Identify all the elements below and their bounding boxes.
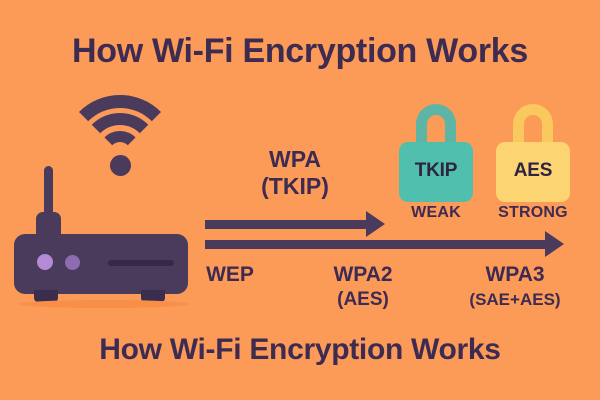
padlock-aes-icon: AES [496,104,570,202]
padlock-aes-label: AES [496,160,570,182]
router-vent-slot [108,260,174,266]
protocol-name-wep: WEP [206,263,254,286]
wifi-router-illustration [8,88,208,308]
protocol-name-wpa3: WPA3 [485,263,544,286]
label-wpa-line1: WPA [269,146,321,172]
infographic-canvas: How Wi-Fi Encryption Works WPA (TKIP) TK… [0,0,600,400]
router-led-indicator-2 [65,255,80,270]
protocol-name-wpa2: WPA2 [333,263,392,286]
router-shadow [20,300,188,308]
wifi-signal-dot-icon [110,155,131,176]
protocol-label-wpa3: WPA3 (SAE+AES) [440,262,590,312]
arrow-bottom-head-icon [545,231,564,257]
label-wpa-tkip: WPA (TKIP) [215,146,375,200]
padlock-tkip-icon: TKIP [399,104,473,202]
arrow-bottom-line [205,240,547,249]
arrow-top-line [205,220,368,229]
protocol-detail-wpa3: (SAE+AES) [440,287,590,312]
page-title-bottom: How Wi-Fi Encryption Works [0,332,600,368]
page-title-top: How Wi-Fi Encryption Works [0,31,600,71]
strength-label-strong: STRONG [483,204,583,222]
protocol-label-wpa2: WPA2 (AES) [303,262,423,312]
router-led-indicator-1 [37,254,53,270]
padlock-tkip-label: TKIP [399,160,473,182]
protocol-label-wep: WEP [185,262,275,287]
protocol-detail-wpa2: (AES) [303,287,423,312]
label-wpa-line2: (TKIP) [261,173,329,199]
arrow-protocol-timeline [205,231,565,257]
strength-label-weak: WEAK [390,204,482,222]
